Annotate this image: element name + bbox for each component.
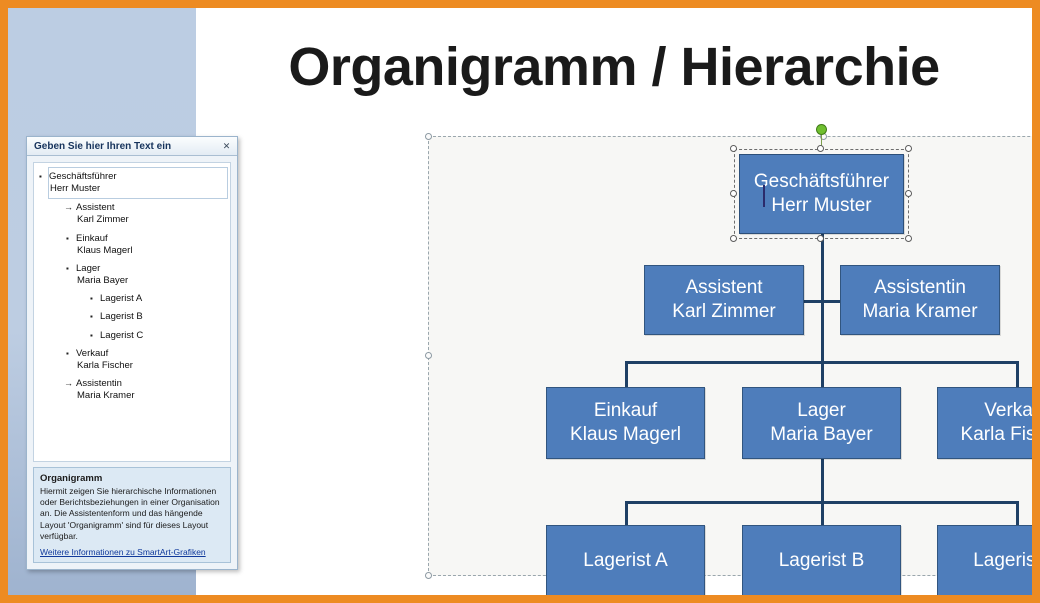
slide-surface[interactable]: Organigramm / Hierarchie	[196, 8, 1032, 595]
page-title: Organigramm / Hierarchie	[196, 36, 1032, 98]
slide-inner: Organigramm / Hierarchie	[8, 8, 1032, 595]
list-item-line1: Einkauf	[76, 233, 226, 245]
org-node-root-line2: Herr Muster	[771, 194, 871, 218]
bullet-icon: ▪	[90, 332, 93, 340]
bullet-icon: ▪	[90, 313, 93, 321]
org-node-root-line1: Geschäftsführer	[754, 170, 889, 194]
org-node-assistant-1[interactable]: Assistent Karl Zimmer	[644, 265, 804, 335]
org-node-warehouse-3[interactable]: Lagerist C	[937, 525, 1032, 595]
org-node-warehouse-1-line1: Lagerist A	[583, 549, 668, 573]
connector-root-trunk	[821, 234, 824, 362]
connector-assistant-right	[821, 300, 840, 303]
list-item-line1: Lagerist C	[100, 330, 226, 342]
org-node-department-3-line1: Verkauf	[984, 399, 1032, 423]
org-node-department-3-line2: Karla Fischer	[961, 423, 1032, 447]
text-pane-header: Geben Sie hier Ihren Text ein ✕	[27, 137, 237, 156]
list-item-line2: Maria Bayer	[76, 275, 226, 287]
list-item-line2: Karla Fischer	[76, 360, 226, 372]
list-item[interactable]: ▪ Geschäftsführer Herr Muster	[48, 167, 228, 199]
layout-description-box: Organigramm Hiermit zeigen Sie hierarchi…	[33, 467, 231, 563]
org-node-assistant-2[interactable]: Assistentin Maria Kramer	[840, 265, 1000, 335]
connector-warehouse-drop-1	[625, 501, 628, 525]
arrow-bullet-icon: →	[64, 379, 73, 388]
org-node-assistant-1-line2: Karl Zimmer	[672, 300, 775, 324]
org-node-department-2-line2: Maria Bayer	[770, 423, 872, 447]
list-item-line2: Herr Muster	[49, 183, 223, 195]
connector-lager-trunk	[821, 459, 824, 503]
org-node-warehouse-2-line1: Lagerist B	[779, 549, 865, 573]
canvas-handle-bottom-left[interactable]	[425, 572, 432, 579]
org-node-warehouse-1[interactable]: Lagerist A	[546, 525, 705, 595]
text-pane-list[interactable]: ▪ Geschäftsführer Herr Muster → Assisten…	[33, 162, 231, 462]
bullet-icon: ▪	[66, 350, 69, 358]
org-node-department-2[interactable]: Lager Maria Bayer	[742, 387, 901, 459]
connector-warehouse-drop-3	[1016, 501, 1019, 525]
connector-warehouse-drop-2	[821, 501, 824, 525]
list-item[interactable]: ▪ Verkauf Karla Fischer	[76, 345, 230, 375]
list-item[interactable]: → Assistentin Maria Kramer	[76, 375, 230, 405]
list-item-line1: Assistentin	[76, 378, 226, 390]
org-node-department-1-line1: Einkauf	[594, 399, 657, 423]
bullet-icon: ▪	[90, 295, 93, 303]
list-item[interactable]: ▪ Lagerist C	[100, 327, 230, 345]
connector-dept-drop-1	[625, 361, 628, 387]
smartart-text-pane[interactable]: Geben Sie hier Ihren Text ein ✕ ▪ Geschä…	[26, 136, 238, 570]
bullet-icon: ▪	[66, 235, 69, 243]
list-item-line1: Lagerist A	[100, 293, 226, 305]
list-item[interactable]: → Assistent Karl Zimmer	[76, 199, 230, 229]
text-pane-title: Geben Sie hier Ihren Text ein	[27, 141, 171, 152]
org-node-department-3[interactable]: Verkauf Karla Fischer	[937, 387, 1032, 459]
list-item[interactable]: ▪ Lagerist B	[100, 308, 230, 326]
list-item-line1: Assistent	[76, 202, 226, 214]
list-item-line2: Klaus Magerl	[76, 245, 226, 257]
canvas-handle-left-middle[interactable]	[425, 352, 432, 359]
bullet-icon: ▪	[66, 265, 69, 273]
node-handle-bottom-right[interactable]	[905, 235, 912, 242]
list-item-line1: Lager	[76, 263, 226, 275]
slide-frame: Organigramm / Hierarchie	[0, 0, 1040, 603]
node-handle-top-left[interactable]	[730, 145, 737, 152]
layout-description-body: Hiermit zeigen Sie hierarchische Informa…	[40, 486, 224, 542]
canvas-handle-top-left[interactable]	[425, 133, 432, 140]
org-node-assistant-2-line2: Maria Kramer	[862, 300, 977, 324]
node-handle-left-middle[interactable]	[730, 190, 737, 197]
org-node-department-1-line2: Klaus Magerl	[570, 423, 681, 447]
org-node-department-1[interactable]: Einkauf Klaus Magerl	[546, 387, 705, 459]
connector-dept-drop-2	[821, 361, 824, 387]
rotation-handle-icon[interactable]	[816, 124, 827, 135]
connector-assistant-left	[804, 300, 822, 303]
smartart-canvas[interactable]: Geschäftsführer Herr Muster Assistent	[428, 136, 1032, 576]
node-handle-top-middle[interactable]	[817, 145, 824, 152]
list-item[interactable]: ▪ Lagerist A	[100, 290, 230, 308]
layout-description-title: Organigramm	[40, 473, 224, 484]
list-item-line1: Verkauf	[76, 348, 226, 360]
text-caret	[763, 185, 765, 207]
smartart-help-link[interactable]: Weitere Informationen zu SmartArt-Grafik…	[40, 547, 224, 558]
list-item-line1: Lagerist B	[100, 311, 226, 323]
node-handle-top-right[interactable]	[905, 145, 912, 152]
connector-dept-drop-3	[1016, 361, 1019, 387]
list-item-line2: Karl Zimmer	[76, 214, 226, 226]
list-item-line2: Maria Kramer	[76, 390, 226, 402]
node-handle-bottom-middle[interactable]	[817, 235, 824, 242]
org-node-assistant-2-line1: Assistentin	[874, 276, 966, 300]
close-icon[interactable]: ✕	[220, 140, 233, 153]
list-item[interactable]: ▪ Einkauf Klaus Magerl	[76, 230, 230, 260]
bullet-icon: ▪	[39, 173, 42, 181]
org-node-department-2-line1: Lager	[797, 399, 846, 423]
org-node-warehouse-2[interactable]: Lagerist B	[742, 525, 901, 595]
node-handle-bottom-left[interactable]	[730, 235, 737, 242]
node-handle-right-middle[interactable]	[905, 190, 912, 197]
arrow-bullet-icon: →	[64, 203, 73, 212]
org-node-warehouse-3-line1: Lagerist C	[973, 549, 1032, 573]
org-node-assistant-1-line1: Assistent	[685, 276, 762, 300]
list-item-line1: Geschäftsführer	[49, 171, 223, 183]
list-item[interactable]: ▪ Lager Maria Bayer	[76, 260, 230, 290]
